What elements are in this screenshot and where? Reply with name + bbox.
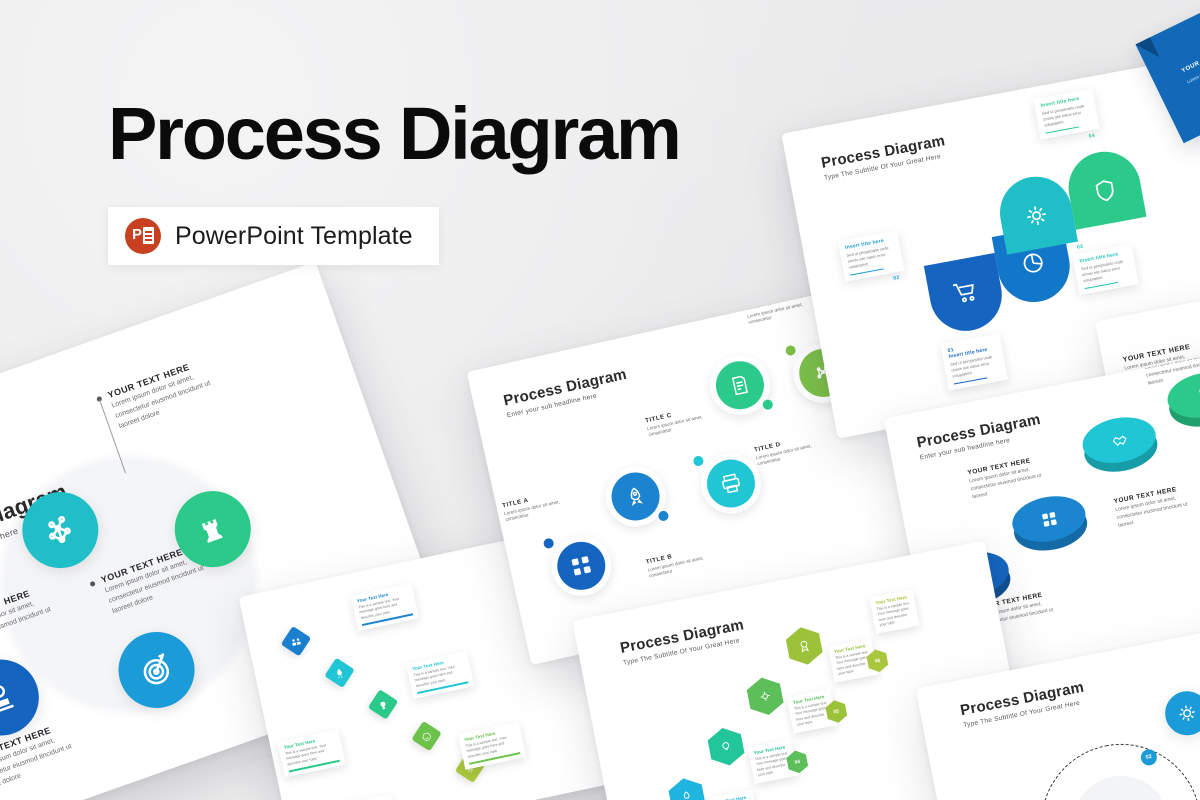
powerpoint-icon: P [125,218,161,254]
gear-icon [1021,200,1051,230]
smile-icon [420,730,433,743]
diamond-2[interactable] [324,658,354,688]
disc-teamwork[interactable] [1008,490,1091,555]
ppt-doc-glyph [143,227,154,244]
scurve-card-01: 01 Insert title here Sed ut perspiciatis… [940,333,1008,390]
hex-05[interactable] [784,624,825,668]
step-node-b[interactable] [600,461,672,533]
connector-nub-d [762,399,774,411]
diamond-3[interactable] [368,689,398,719]
invoice-icon [1194,385,1200,405]
printer-icon [718,470,744,496]
target-icon [132,646,181,695]
brain-network-icon [36,506,85,555]
step-node-a[interactable] [546,530,618,602]
diamond-card-2: Your Text Here This is a sample text. Yo… [406,651,474,699]
hex-card-02: Your Text Here This is a sample text. Yo… [709,790,759,800]
diamond-card-4: Your Text Here This is a sample text. Yo… [278,729,346,777]
ribbon-head: YOUR TEXT HERE [1181,43,1200,75]
gear-icon [1174,700,1200,726]
slide-iso-heading: Process Diagram Enter your sub headline … [915,411,1043,461]
label-title-a: TITLE A Lorem ipsum dolor sit amet, cons… [502,491,563,524]
ribbon-fold [1135,37,1159,64]
shield-icon [1090,176,1120,206]
powerpoint-template-badge: P PowerPoint Template [108,207,439,265]
shape-gear[interactable] [994,171,1078,255]
teamwork-icon [1039,509,1059,529]
connector-nub-c [692,455,704,467]
disc-handshake[interactable] [1079,411,1162,476]
teamwork-icon [289,635,302,648]
diamond-card-1: Your Text Here This is a sample text. Yo… [351,583,419,631]
bulb-icon [377,698,390,711]
page-title: Process Diagram [108,96,680,171]
diamond-4[interactable] [411,721,441,751]
hex-04[interactable] [745,674,786,718]
slide-circ-heading: Process Diagram Type The Subtitle Of You… [959,679,1087,729]
step-node-d[interactable] [704,349,776,421]
slide-scurve-heading: Process Diagram Type The Subtitle Of You… [820,132,948,181]
scurve-card-02: Insert title here Sed ut perspiciatis un… [838,230,905,282]
slide-hex-heading: Process Diagram Type The Subtitle Of You… [619,616,747,666]
scurve-card-04: Insert title here Sed ut perspiciatis un… [1033,88,1100,140]
slide-center-heading: Process Diagram Enter your sub headline … [502,366,630,420]
hand-gear-icon [0,676,23,719]
badge-label: PowerPoint Template [175,222,413,251]
handshake-icon [1109,430,1129,450]
label-title-d: TITLE D Lorem ipsum dolor sit amet, cons… [754,435,815,468]
circ-node-02[interactable] [1161,687,1200,739]
ppt-letter: P [132,227,142,242]
label-title-c: TITLE C Lorem ipsum dolor sit amet, cons… [645,406,706,439]
invoice-icon [727,372,753,398]
teamwork-icon [568,553,594,579]
diamond-1[interactable] [281,626,311,656]
iso-label-3: YOUR TEXT HERE Lorem ipsum dolor sit ame… [1113,485,1190,530]
label-title-e: TITLE E Lorem ipsum dolor sit amet, cons… [745,294,806,327]
hero-block: Process Diagram P PowerPoint Template [108,96,680,265]
hex-02[interactable] [667,775,708,800]
iso-label-2: YOUR TEXT HERE Lorem ipsum dolor sit ame… [967,456,1044,501]
rocket-icon [622,483,648,509]
award-icon [796,638,812,654]
scurve-card-03: 03 Insert title here Sed ut perspiciatis… [1072,244,1139,296]
connector-nub-e [785,344,797,356]
rocket-icon [679,789,695,800]
connector-nub-a [543,537,555,549]
diamond-card-5: Your Text Here This is a sample text. Yo… [330,794,398,800]
hex-03[interactable] [706,725,747,769]
shape-shield[interactable] [1063,146,1147,230]
rocket-icon [333,666,346,679]
bulb-icon [718,738,734,754]
connector-nub-b [657,510,669,522]
shopping-cart-icon [950,277,980,307]
label-title-b: TITLE B Lorem ipsum dolor sit amet, cons… [646,547,707,580]
diamond-card-3: Your Text Here This is a sample text. Yo… [458,722,526,770]
shape-cart[interactable] [924,253,1008,337]
label-top-right: YOUR TEXT HERE Lorem ipsum dolor sit ame… [106,356,219,433]
pie-chart-icon [1018,248,1048,278]
gear-icon [757,688,773,704]
hex-card-06: Your Text Here This is a sample text. Yo… [869,589,919,633]
